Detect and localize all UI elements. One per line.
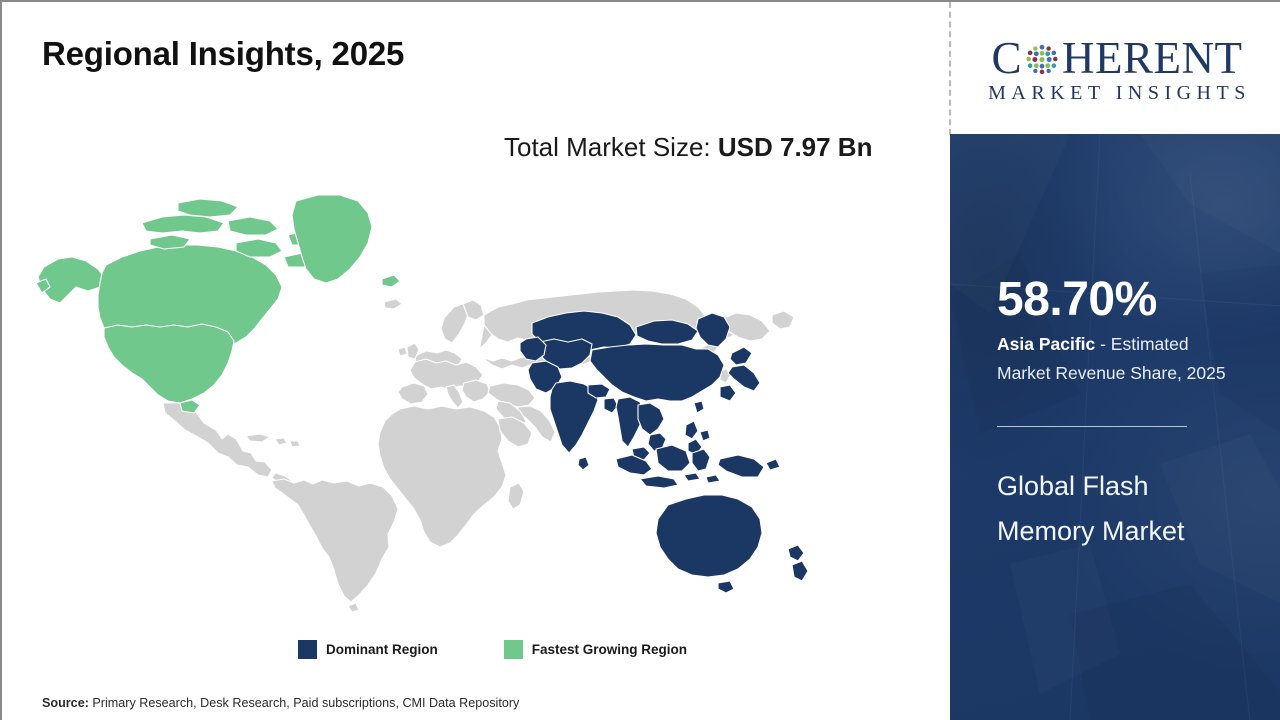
source-text: Primary Research, Desk Research, Paid su… bbox=[89, 696, 519, 710]
panel-divider-rule bbox=[997, 426, 1187, 427]
infographic-page: Regional Insights, 2025 Total Market Siz… bbox=[0, 0, 1280, 720]
map-region-fastest-growing bbox=[36, 195, 400, 413]
logo-wordmark: C bbox=[992, 36, 1243, 81]
world-map-svg bbox=[32, 187, 822, 617]
legend-swatch-fastest-growing bbox=[504, 640, 523, 659]
stats-panel-content: 58.70% Asia Pacific - Estimated Market R… bbox=[950, 134, 1280, 720]
world-map bbox=[32, 187, 822, 617]
stats-panel: 58.70% Asia Pacific - Estimated Market R… bbox=[950, 134, 1280, 720]
share-region: Asia Pacific bbox=[997, 334, 1095, 354]
vertical-dashed-divider bbox=[949, 2, 951, 135]
legend-label-fastest-growing: Fastest Growing Region bbox=[532, 642, 687, 657]
share-description: Asia Pacific - Estimated Market Revenue … bbox=[997, 330, 1237, 388]
page-title: Regional Insights, 2025 bbox=[42, 35, 404, 73]
logo: C bbox=[952, 6, 1280, 134]
share-percentage: 58.70% bbox=[997, 276, 1157, 324]
source-note: Source: Primary Research, Desk Research,… bbox=[42, 696, 519, 710]
legend-label-dominant: Dominant Region bbox=[326, 642, 438, 657]
market-size-prefix: Total Market Size: bbox=[504, 132, 718, 162]
legend-item-dominant: Dominant Region bbox=[298, 640, 438, 659]
dotted-sphere-icon bbox=[1023, 41, 1061, 79]
logo-subtitle: MARKET INSIGHTS bbox=[983, 82, 1251, 105]
legend-swatch-dominant bbox=[298, 640, 317, 659]
source-label: Source: bbox=[42, 696, 89, 710]
logo-letter-c: C bbox=[992, 36, 1023, 81]
map-legend: Dominant Region Fastest Growing Region bbox=[298, 640, 687, 659]
total-market-size: Total Market Size: USD 7.97 Bn bbox=[504, 128, 904, 166]
market-size-value: USD 7.97 Bn bbox=[718, 132, 873, 162]
legend-item-fastest-growing: Fastest Growing Region bbox=[504, 640, 687, 659]
market-name: Global Flash Memory Market bbox=[997, 464, 1212, 555]
logo-letters-herent: HERENT bbox=[1062, 36, 1242, 81]
map-region-dominant bbox=[520, 311, 808, 593]
